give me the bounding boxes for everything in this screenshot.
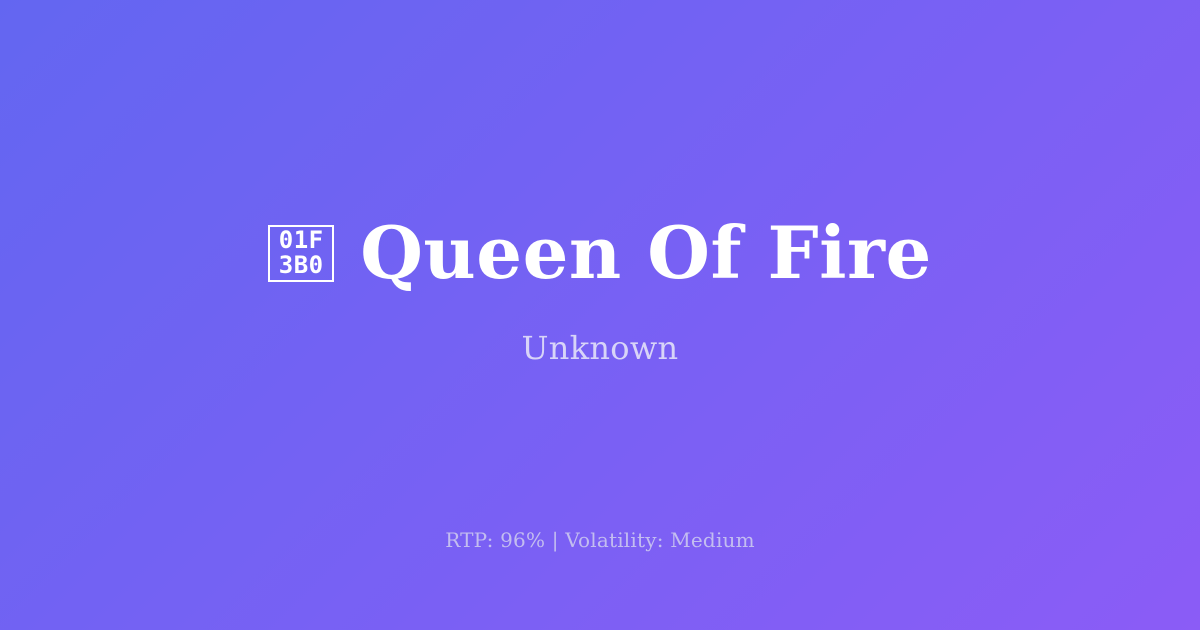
game-og-card: 01F 3B0 Queen Of Fire Unknown RTP: 96% |… (0, 0, 1200, 630)
game-title: Queen Of Fire (360, 215, 932, 291)
slot-machine-icon-codepoint-top: 01F (279, 228, 324, 253)
title-row: 01F 3B0 Queen Of Fire (268, 215, 932, 291)
game-provider: Unknown (522, 329, 679, 367)
game-meta-line: RTP: 96% | Volatility: Medium (0, 528, 1200, 552)
slot-machine-icon: 01F 3B0 (268, 225, 334, 282)
slot-machine-icon-codepoint-bottom: 3B0 (279, 253, 324, 278)
